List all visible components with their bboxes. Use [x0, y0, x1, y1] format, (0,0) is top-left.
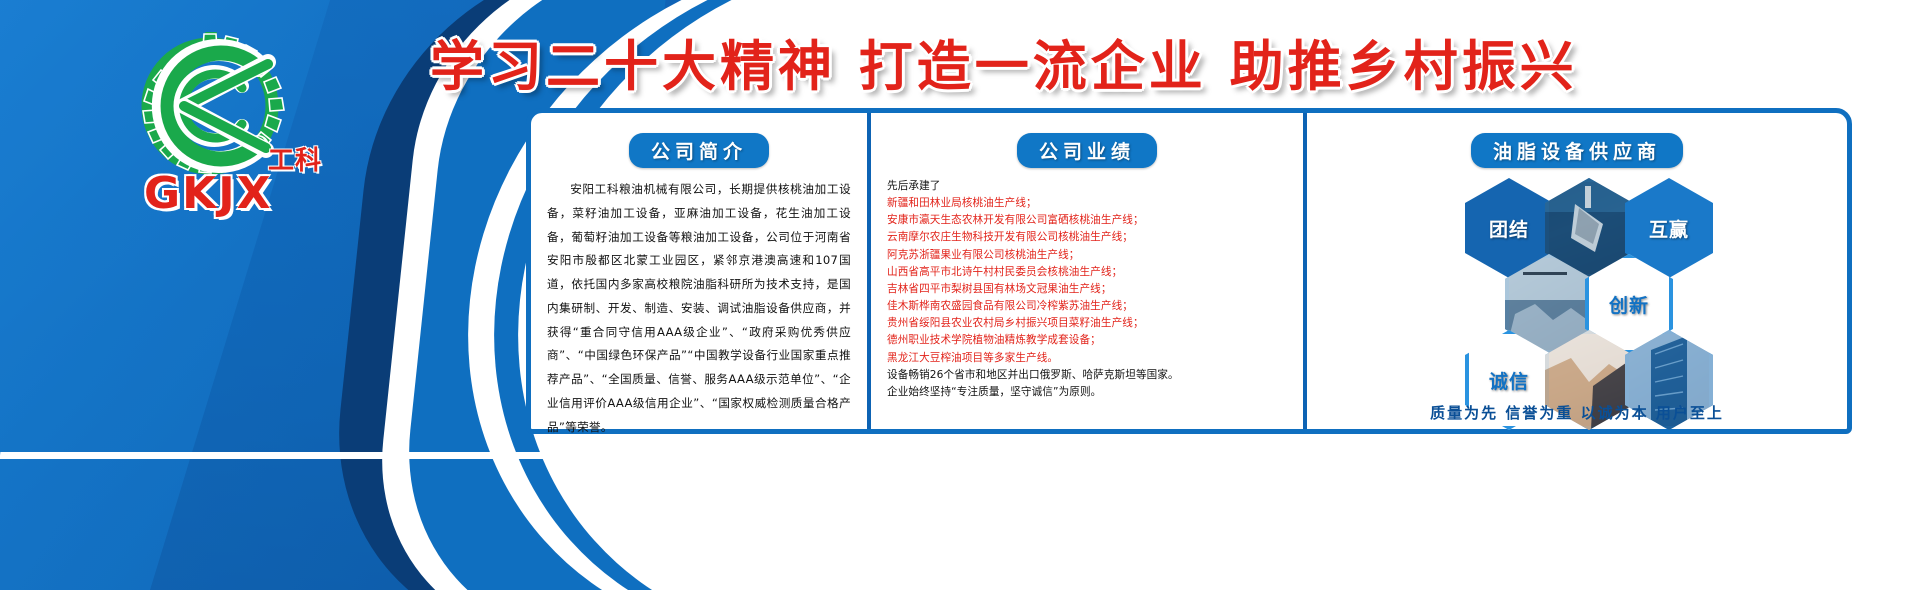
performance-item: 阿克苏浙疆果业有限公司核桃油生产线；	[887, 247, 1287, 264]
performance-item: 吉林省四平市梨树县国有林场文冠果油生产线；	[887, 281, 1287, 298]
performance-item: 山西省高平市北诗午村村民委员会核桃油生产线；	[887, 264, 1287, 281]
hex-label: 团结	[1489, 215, 1529, 242]
hex-label: 创新	[1609, 291, 1649, 318]
panel-title-supplier: 油脂设备供应商	[1471, 133, 1683, 168]
values-hex-grid: 团结 互赢	[1323, 178, 1831, 383]
performance-lead: 先后承建了	[887, 178, 1287, 195]
performance-item: 新疆和田林业局核桃油生产线；	[887, 195, 1287, 212]
performance-item: 佳木斯桦南农盛园食品有限公司冷榨紫苏油生产线；	[887, 298, 1287, 315]
company-intro-body: 安阳工科粮油机械有限公司，长期提供核桃油加工设备，菜籽油加工设备，亚麻油加工设备…	[547, 178, 851, 439]
performance-item: 云南摩尔农庄生物科技开发有限公司核桃油生产线；	[887, 229, 1287, 246]
panel-title-intro: 公司简介	[629, 133, 769, 168]
logo-chinese-text: 工科	[268, 140, 322, 177]
panel-supplier: 油脂设备供应商 团结	[1307, 113, 1847, 429]
poster-canvas: 工科 GKJX 学习二十大精神 打造一流企业 助推乡村振兴 公司简介 安阳工科粮…	[0, 0, 1920, 590]
performance-item: 贵州省绥阳县农业农村局乡村振兴项目菜籽油生产线；	[887, 315, 1287, 332]
hex-label: 诚信	[1489, 367, 1529, 394]
content-board: 公司简介 安阳工科粮油机械有限公司，长期提供核桃油加工设备，菜籽油加工设备，亚麻…	[526, 108, 1852, 434]
panel-company-intro: 公司简介 安阳工科粮油机械有限公司，长期提供核桃油加工设备，菜籽油加工设备，亚麻…	[531, 113, 867, 429]
performance-item: 德州职业技术学院植物油精炼教学成套设备；	[887, 332, 1287, 349]
hex-label: 互赢	[1649, 215, 1689, 242]
performance-item: 黑龙江大豆榨油项目等多家生产线。	[887, 350, 1287, 367]
performance-footer: 企业始终坚持“专注质量，坚守诚信”为原则。	[887, 384, 1287, 401]
supplier-slogan: 质量为先 信誉为重 以诚为本 用户至上	[1307, 402, 1847, 423]
poster-headline: 学习二十大精神 打造一流企业 助推乡村振兴	[430, 22, 1470, 101]
performance-footer: 设备畅销26个省市和地区并出口俄罗斯、哈萨克斯坦等国家。	[887, 367, 1287, 384]
logo-english-text: GKJX	[144, 168, 273, 219]
performance-list: 先后承建了 新疆和田林业局核桃油生产线； 安康市瀛天生态农林开发有限公司富硒核桃…	[887, 178, 1287, 401]
panel-title-performance: 公司业绩	[1017, 133, 1157, 168]
performance-item: 安康市瀛天生态农林开发有限公司富硒核桃油生产线；	[887, 212, 1287, 229]
decor-bottom-stripe	[0, 452, 1920, 459]
panel-company-performance: 公司业绩 先后承建了 新疆和田林业局核桃油生产线； 安康市瀛天生态农林开发有限公…	[867, 113, 1307, 429]
company-logo: 工科 GKJX	[118, 28, 318, 208]
